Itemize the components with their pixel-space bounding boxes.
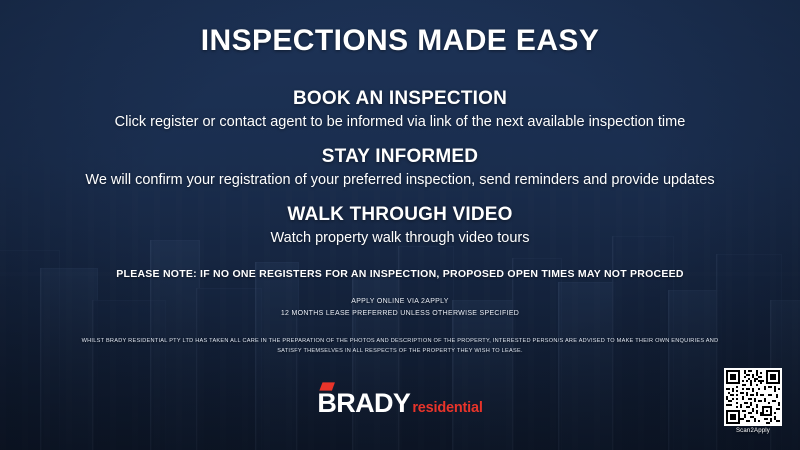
- qr-caption: Scan2Apply: [722, 428, 784, 434]
- please-note-text: PLEASE NOTE: IF NO ONE REGISTERS FOR AN …: [0, 268, 800, 280]
- logo-secondary-text: residential: [412, 401, 482, 416]
- qr-code-icon[interactable]: [724, 368, 782, 426]
- lease-term-line: 12 MONTHS LEASE PREFERRED UNLESS OTHERWI…: [0, 308, 800, 320]
- section-heading: STAY INFORMED: [0, 146, 800, 168]
- red-roof-mark-icon: [319, 382, 335, 391]
- slide-title: INSPECTIONS MADE EASY: [0, 24, 800, 58]
- logo-primary-text: BRADY: [317, 390, 410, 417]
- slide-content: INSPECTIONS MADE EASY BOOK AN INSPECTION…: [0, 0, 800, 450]
- section-stay-informed: STAY INFORMED We will confirm your regis…: [0, 146, 800, 188]
- section-subtext: Watch property walk through video tours: [0, 230, 800, 246]
- apply-info-block: APPLY ONLINE VIA 2APPLY 12 MONTHS LEASE …: [0, 296, 800, 321]
- section-subtext: We will confirm your registration of you…: [0, 172, 800, 188]
- apply-online-line: APPLY ONLINE VIA 2APPLY: [0, 296, 800, 308]
- legal-disclaimer: WHILST BRADY RESIDENTIAL PTY LTD HAS TAK…: [80, 336, 720, 357]
- section-heading: BOOK AN INSPECTION: [0, 88, 800, 110]
- section-book-an-inspection: BOOK AN INSPECTION Click register or con…: [0, 88, 800, 130]
- section-walk-through-video: WALK THROUGH VIDEO Watch property walk t…: [0, 204, 800, 246]
- scan-to-apply-block[interactable]: Scan2Apply: [722, 368, 784, 434]
- section-heading: WALK THROUGH VIDEO: [0, 204, 800, 226]
- presentation-slide: INSPECTIONS MADE EASY BOOK AN INSPECTION…: [0, 0, 800, 450]
- section-subtext: Click register or contact agent to be in…: [0, 114, 800, 130]
- brady-residential-logo: BRADY residential: [317, 390, 482, 417]
